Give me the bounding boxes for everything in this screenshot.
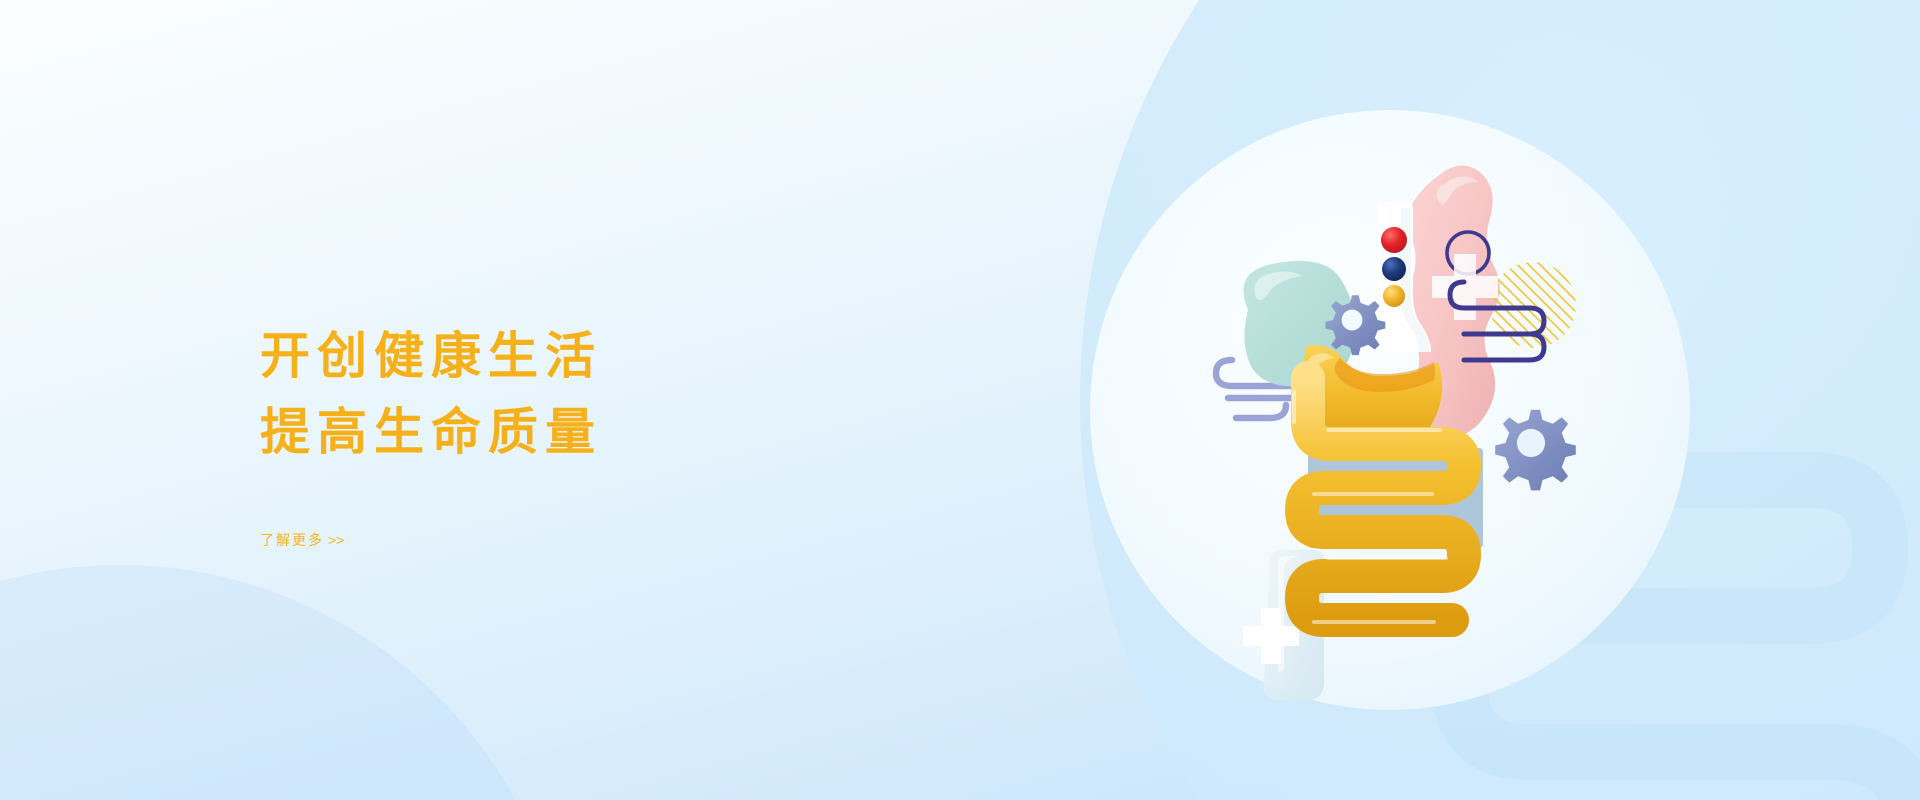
pill-amber [1383, 285, 1405, 307]
digestive-health-illustration [1040, 60, 1740, 760]
learn-more-label: 了解更多 [260, 532, 324, 548]
illustration-container [1040, 60, 1740, 760]
gear-large [1495, 410, 1576, 491]
headline-line-2: 提高生命质量 [260, 394, 820, 470]
pill-red [1381, 227, 1407, 253]
health-hero-banner: 开创健康生活 提高生命质量 了解更多>> [0, 0, 1920, 800]
pill-navy [1382, 257, 1406, 281]
chevron-right-icon: >> [328, 532, 344, 548]
background-circle-left [0, 565, 570, 800]
learn-more-link[interactable]: 了解更多>> [260, 530, 344, 550]
gear-small [1325, 295, 1385, 355]
hero-copy: 开创健康生活 提高生命质量 了解更多>> [260, 318, 820, 550]
headline-line-1: 开创健康生活 [260, 318, 820, 394]
